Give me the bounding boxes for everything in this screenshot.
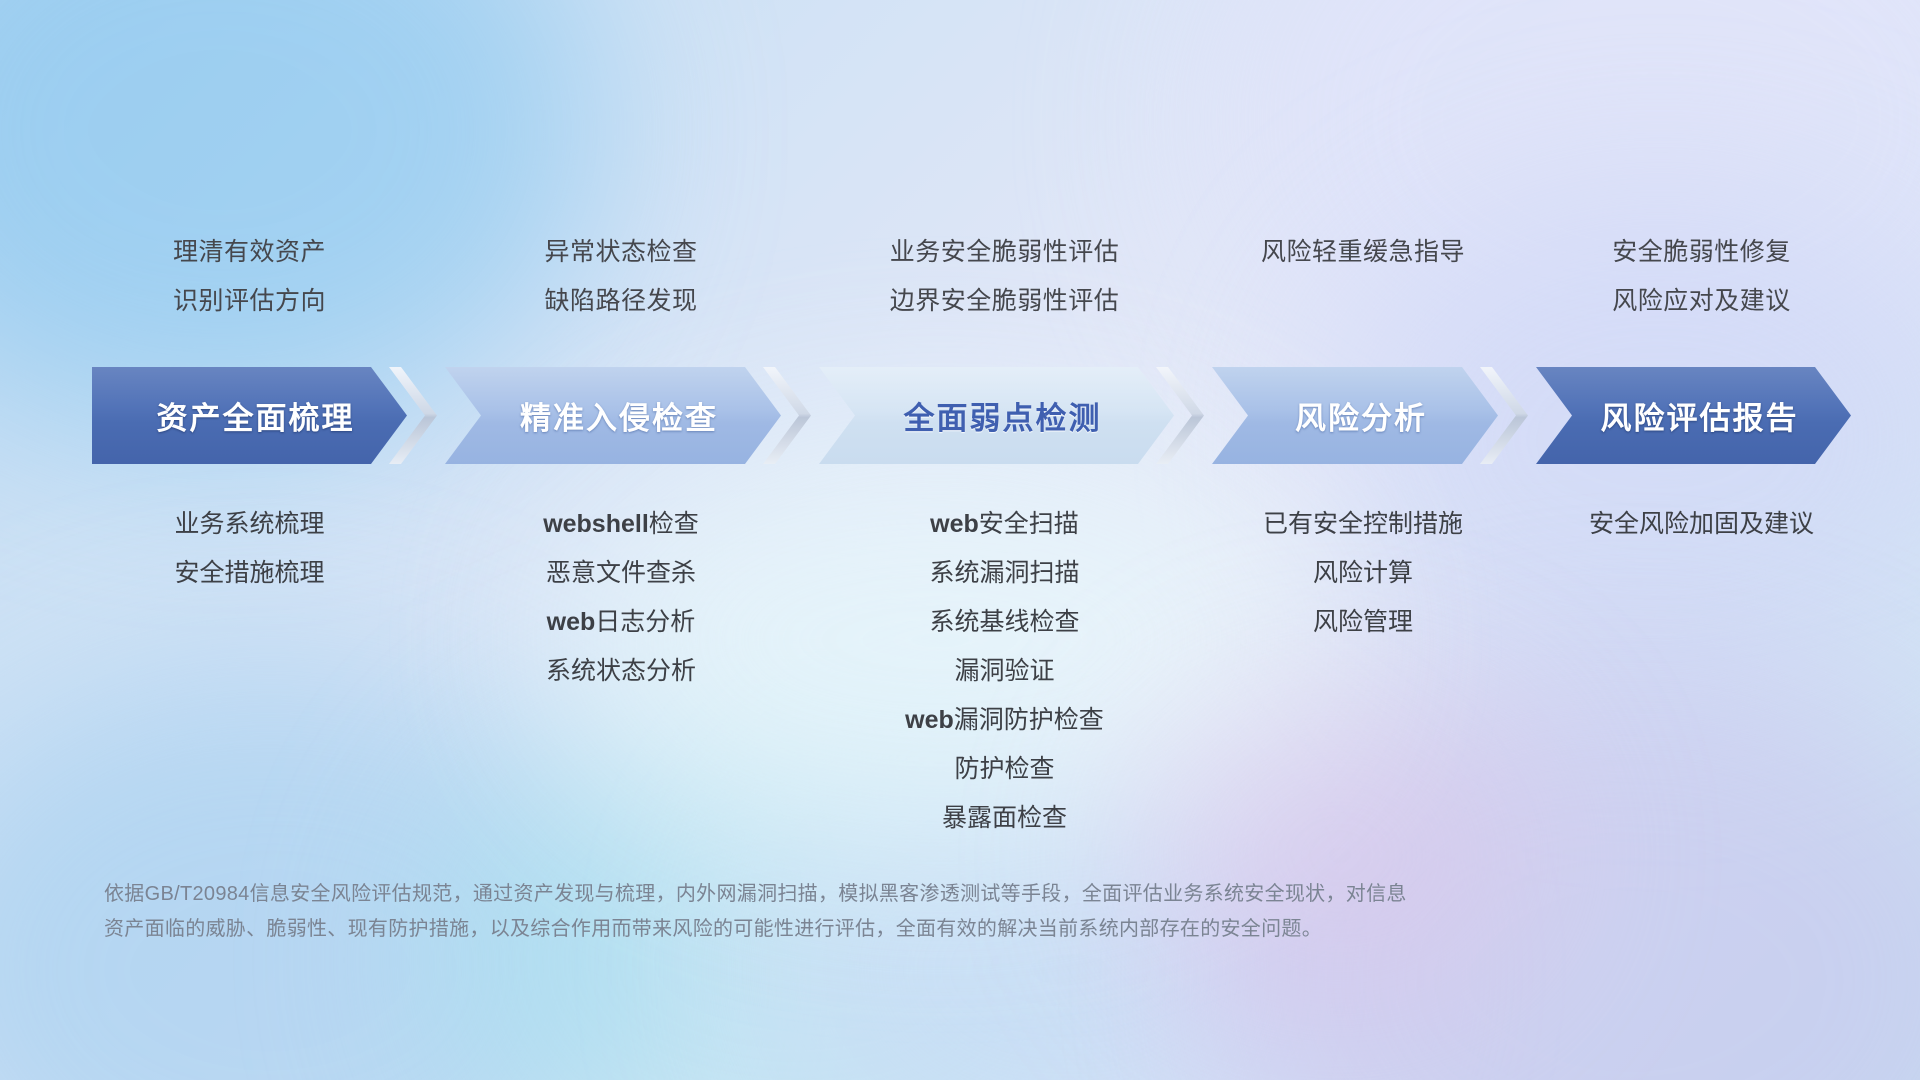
process-diagram: 理清有效资产识别评估方向异常状态检查缺陷路径发现业务安全脆弱性评估边界安全脆弱性…	[0, 0, 1920, 1080]
arrow-separator	[1498, 367, 1536, 464]
stage-item-list-1: 业务系统梳理安全措施梳理	[50, 500, 450, 598]
footer-description: 依据GB/T20984信息安全风险评估规范，通过资产发现与梳理，内外网漏洞扫描，…	[104, 877, 1624, 947]
stage-item: 防护检查	[954, 745, 1054, 794]
stage-item-list-5: 安全风险加固及建议	[1502, 500, 1902, 549]
top-notes-row: 理清有效资产识别评估方向异常状态检查缺陷路径发现业务安全脆弱性评估边界安全脆弱性…	[0, 228, 1920, 338]
stage-item: 风险计算	[1313, 549, 1413, 598]
stage-item-list-3: web安全扫描系统漏洞扫描系统基线检查漏洞验证web漏洞防护检查防护检查暴露面检…	[805, 500, 1205, 843]
stage-item: 系统状态分析	[546, 647, 696, 696]
stage-item: 安全措施梳理	[174, 549, 324, 598]
stage-top-notes-2: 异常状态检查缺陷路径发现	[421, 228, 821, 326]
stage-item: 风险管理	[1313, 598, 1413, 647]
stage-top-notes-5: 安全脆弱性修复风险应对及建议	[1502, 228, 1902, 326]
stage-top-notes-1: 理清有效资产识别评估方向	[50, 228, 450, 326]
stage-title: 资产全面梳理	[92, 393, 407, 438]
stage-item: 系统基线检查	[929, 598, 1079, 647]
stage-item: web漏洞防护检查	[905, 696, 1104, 745]
stage-item: 漏洞验证	[954, 647, 1054, 696]
stage-item: 业务系统梳理	[174, 500, 324, 549]
stage-item: 暴露面检查	[942, 794, 1067, 843]
stage-title: 风险分析	[1212, 393, 1498, 438]
stage-item: web安全扫描	[930, 500, 1079, 549]
arrow-separator	[407, 367, 445, 464]
stage-top-notes-3: 业务安全脆弱性评估边界安全脆弱性评估	[805, 228, 1205, 326]
process-arrow-band: 资产全面梳理精准入侵检查全面弱点检测风险分析风险评估报告	[92, 367, 1852, 464]
stage-top-note: 异常状态检查	[544, 228, 697, 277]
stage-top-note: 识别评估方向	[173, 277, 326, 326]
stage-top-note: 安全脆弱性修复	[1612, 228, 1791, 277]
stage-item: 安全风险加固及建议	[1589, 500, 1814, 549]
stage-top-note: 边界安全脆弱性评估	[890, 277, 1120, 326]
stage-item: webshell检查	[543, 500, 699, 549]
footer-line-2: 资产面临的威胁、脆弱性、现有防护措施，以及综合作用而带来风险的可能性进行评估，全…	[104, 912, 1624, 947]
stage-top-note: 理清有效资产	[173, 228, 326, 277]
stage-top-note: 业务安全脆弱性评估	[890, 228, 1120, 277]
footer-line-1: 依据GB/T20984信息安全风险评估规范，通过资产发现与梳理，内外网漏洞扫描，…	[104, 877, 1624, 912]
stage-top-note: 缺陷路径发现	[544, 277, 697, 326]
stage-top-note: 风险应对及建议	[1612, 277, 1791, 326]
arrow-separator	[1174, 367, 1212, 464]
process-stage-1[interactable]: 资产全面梳理	[92, 367, 407, 464]
stage-title: 全面弱点检测	[819, 393, 1174, 438]
stage-top-note: 风险轻重缓急指导	[1261, 228, 1465, 277]
stage-item: 已有安全控制措施	[1263, 500, 1463, 549]
stage-item: 系统漏洞扫描	[929, 549, 1079, 598]
stage-title: 精准入侵检查	[445, 393, 781, 438]
process-stage-2[interactable]: 精准入侵检查	[445, 367, 781, 464]
stage-item: 恶意文件查杀	[546, 549, 696, 598]
stage-item: web日志分析	[547, 598, 696, 647]
process-stage-3[interactable]: 全面弱点检测	[819, 367, 1174, 464]
stage-title: 风险评估报告	[1536, 393, 1851, 438]
arrow-separator	[781, 367, 819, 464]
stage-item-list-2: webshell检查恶意文件查杀web日志分析系统状态分析	[421, 500, 821, 696]
process-stage-5[interactable]: 风险评估报告	[1536, 367, 1851, 464]
process-stage-4[interactable]: 风险分析	[1212, 367, 1498, 464]
